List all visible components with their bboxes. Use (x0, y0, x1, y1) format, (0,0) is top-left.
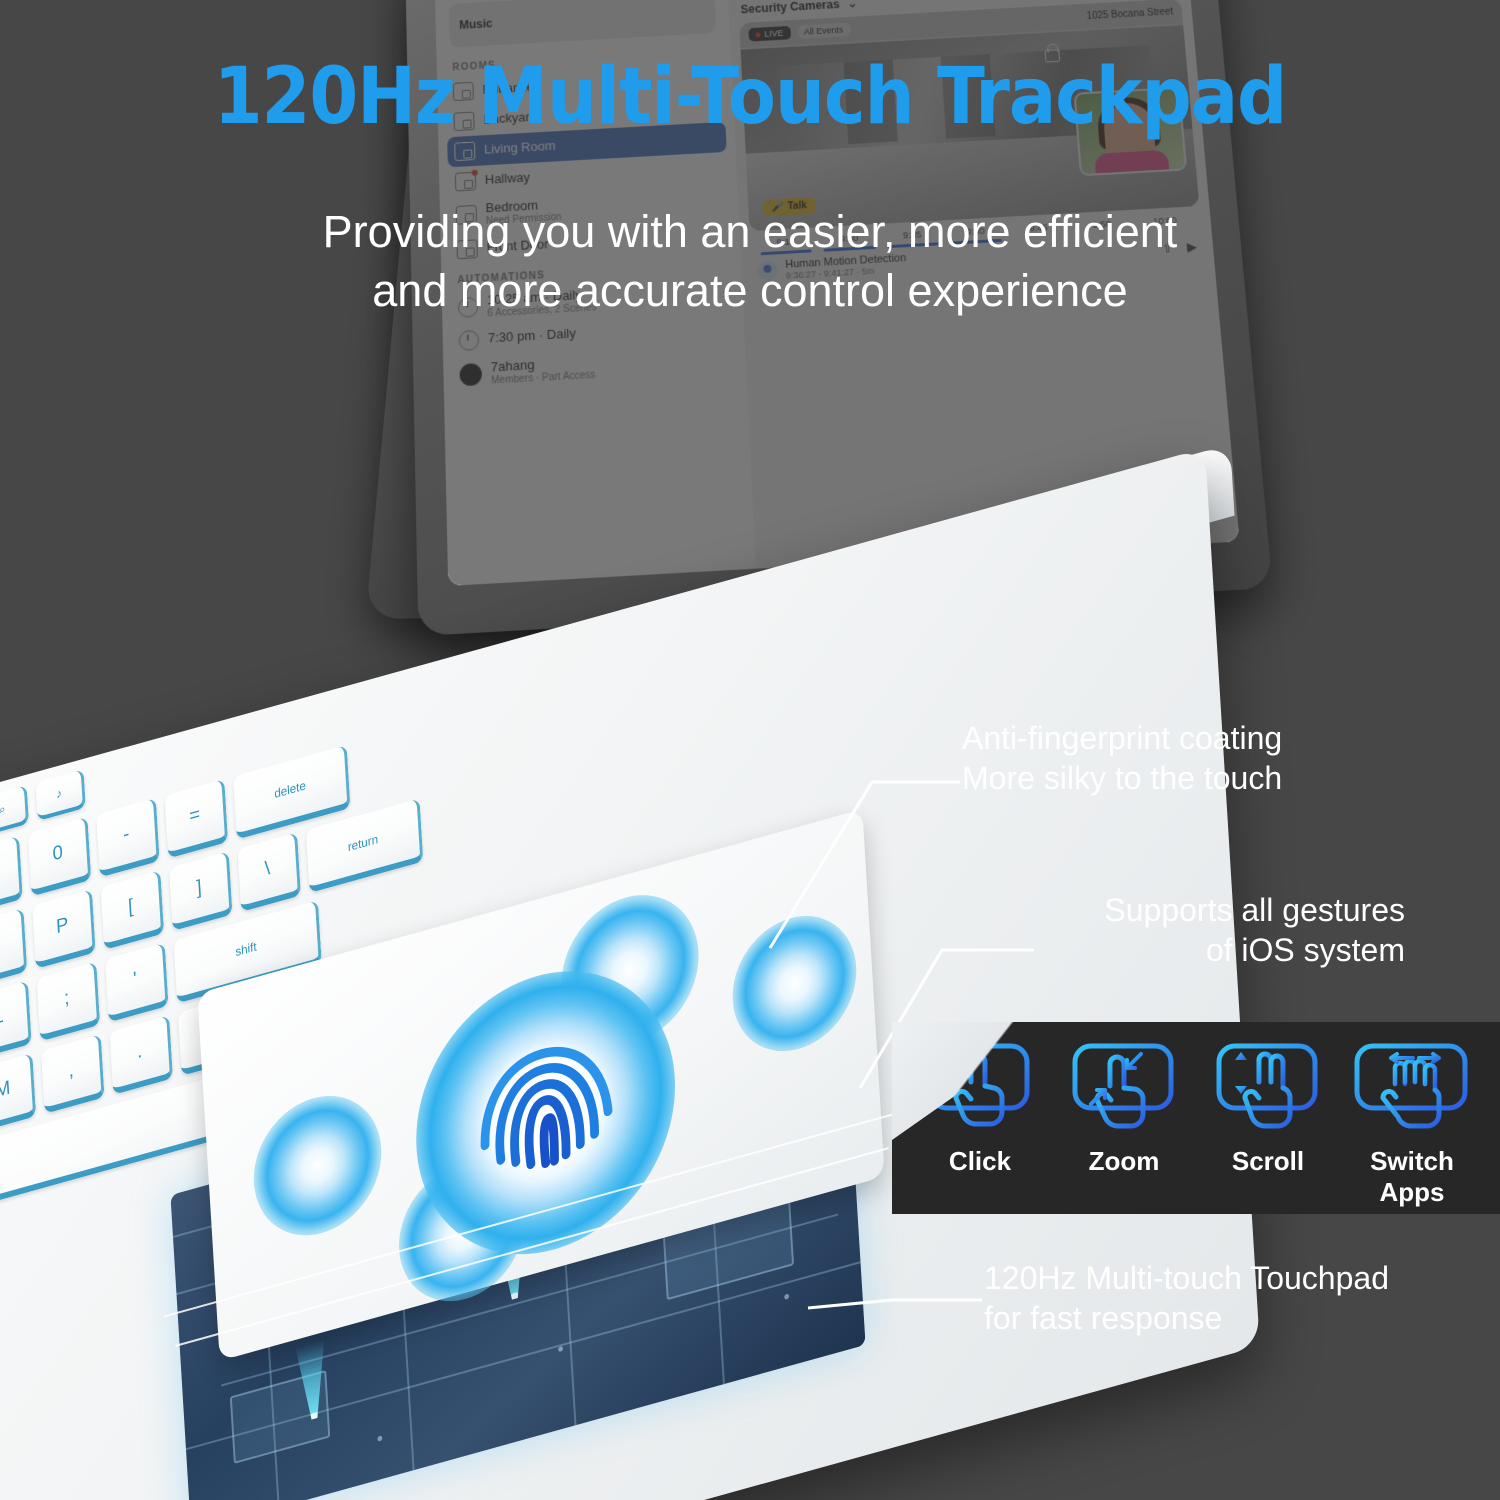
callout-line-1: 120Hz Multi-touch Touchpad (984, 1258, 1389, 1298)
gesture-switch-apps: Switch Apps (1346, 1036, 1478, 1208)
key-period[interactable]: . (109, 1015, 173, 1095)
gesture-panel: Click Zoom (892, 1022, 1500, 1214)
gesture-label: Zoom (1058, 1146, 1190, 1177)
room-icon (454, 142, 475, 162)
subtitle-line-1: Providing you with an easier, more effic… (170, 202, 1330, 261)
page-title: 120Hz Multi-Touch Trackpad (0, 52, 1500, 142)
key-o[interactable]: O (0, 908, 27, 988)
automation-time: 7:30 pm · Daily (488, 327, 576, 347)
two-finger-scroll-icon (1213, 1036, 1323, 1142)
live-badge: LIVE (748, 26, 790, 42)
key-equals[interactable]: = (165, 779, 229, 859)
notification-dot-icon (472, 170, 478, 176)
key-9[interactable]: 9 (0, 836, 23, 916)
product-marketing-image: Music ROOMS Entrance Backyard (0, 0, 1500, 1500)
key-bracket-left[interactable]: [ (101, 870, 165, 950)
camera-address: 1025 Bocana Street (1086, 6, 1173, 21)
key-0[interactable]: 0 (28, 817, 92, 897)
four-finger-swipe-icon (1351, 1036, 1473, 1142)
callout-line-2: More silky to the touch (962, 758, 1282, 798)
room-label: Hallway (485, 171, 531, 188)
touch-ripple-icon (729, 901, 860, 1066)
gesture-label: Click (914, 1146, 1046, 1177)
key-minus[interactable]: - (96, 798, 160, 878)
person-shirt (1094, 149, 1169, 173)
callout-line-1: Anti-fingerprint coating (962, 718, 1282, 758)
page-subtitle: Providing you with an easier, more effic… (170, 202, 1330, 321)
chevron-down-icon[interactable]: ⌄ (847, 0, 858, 10)
key-semicolon[interactable]: ; (37, 962, 101, 1042)
subtitle-line-2: and more accurate control experience (170, 261, 1330, 320)
gesture-label: Switch Apps (1346, 1146, 1478, 1208)
key-quote[interactable]: ' (105, 943, 169, 1023)
callout-anti-fingerprint: Anti-fingerprint coating More silky to t… (962, 718, 1282, 798)
live-label: LIVE (764, 28, 784, 39)
room-icon (455, 172, 476, 192)
gesture-zoom: Zoom (1058, 1036, 1190, 1177)
gesture-label: Scroll (1202, 1146, 1334, 1177)
avatar (459, 363, 482, 386)
events-filter-button[interactable]: All Events (797, 23, 851, 39)
key-l[interactable]: L (0, 981, 32, 1061)
camera-title: Security Cameras (740, 0, 840, 16)
gesture-scroll: Scroll (1202, 1036, 1334, 1177)
touch-ripple-icon (250, 1081, 385, 1251)
callout-touchpad-120hz: 120Hz Multi-touch Touchpad for fast resp… (984, 1258, 1389, 1338)
clock-icon (459, 330, 480, 351)
key-p[interactable]: P (32, 889, 96, 969)
key-bracket-right[interactable]: ] (169, 851, 233, 931)
key-m[interactable]: M (0, 1053, 36, 1133)
callout-gestures: Supports all gestures of iOS system (1104, 890, 1405, 970)
pinch-zoom-icon (1069, 1036, 1179, 1142)
tile-title: Music (459, 5, 706, 32)
callout-line-2: for fast response (984, 1298, 1389, 1338)
key-backslash[interactable]: \ (237, 832, 301, 912)
callout-line-1: Supports all gestures (1104, 890, 1405, 930)
callout-line-2: of iOS system (1104, 930, 1405, 970)
key-comma[interactable]: , (41, 1034, 105, 1114)
key-search[interactable]: ⌕ (0, 785, 29, 837)
